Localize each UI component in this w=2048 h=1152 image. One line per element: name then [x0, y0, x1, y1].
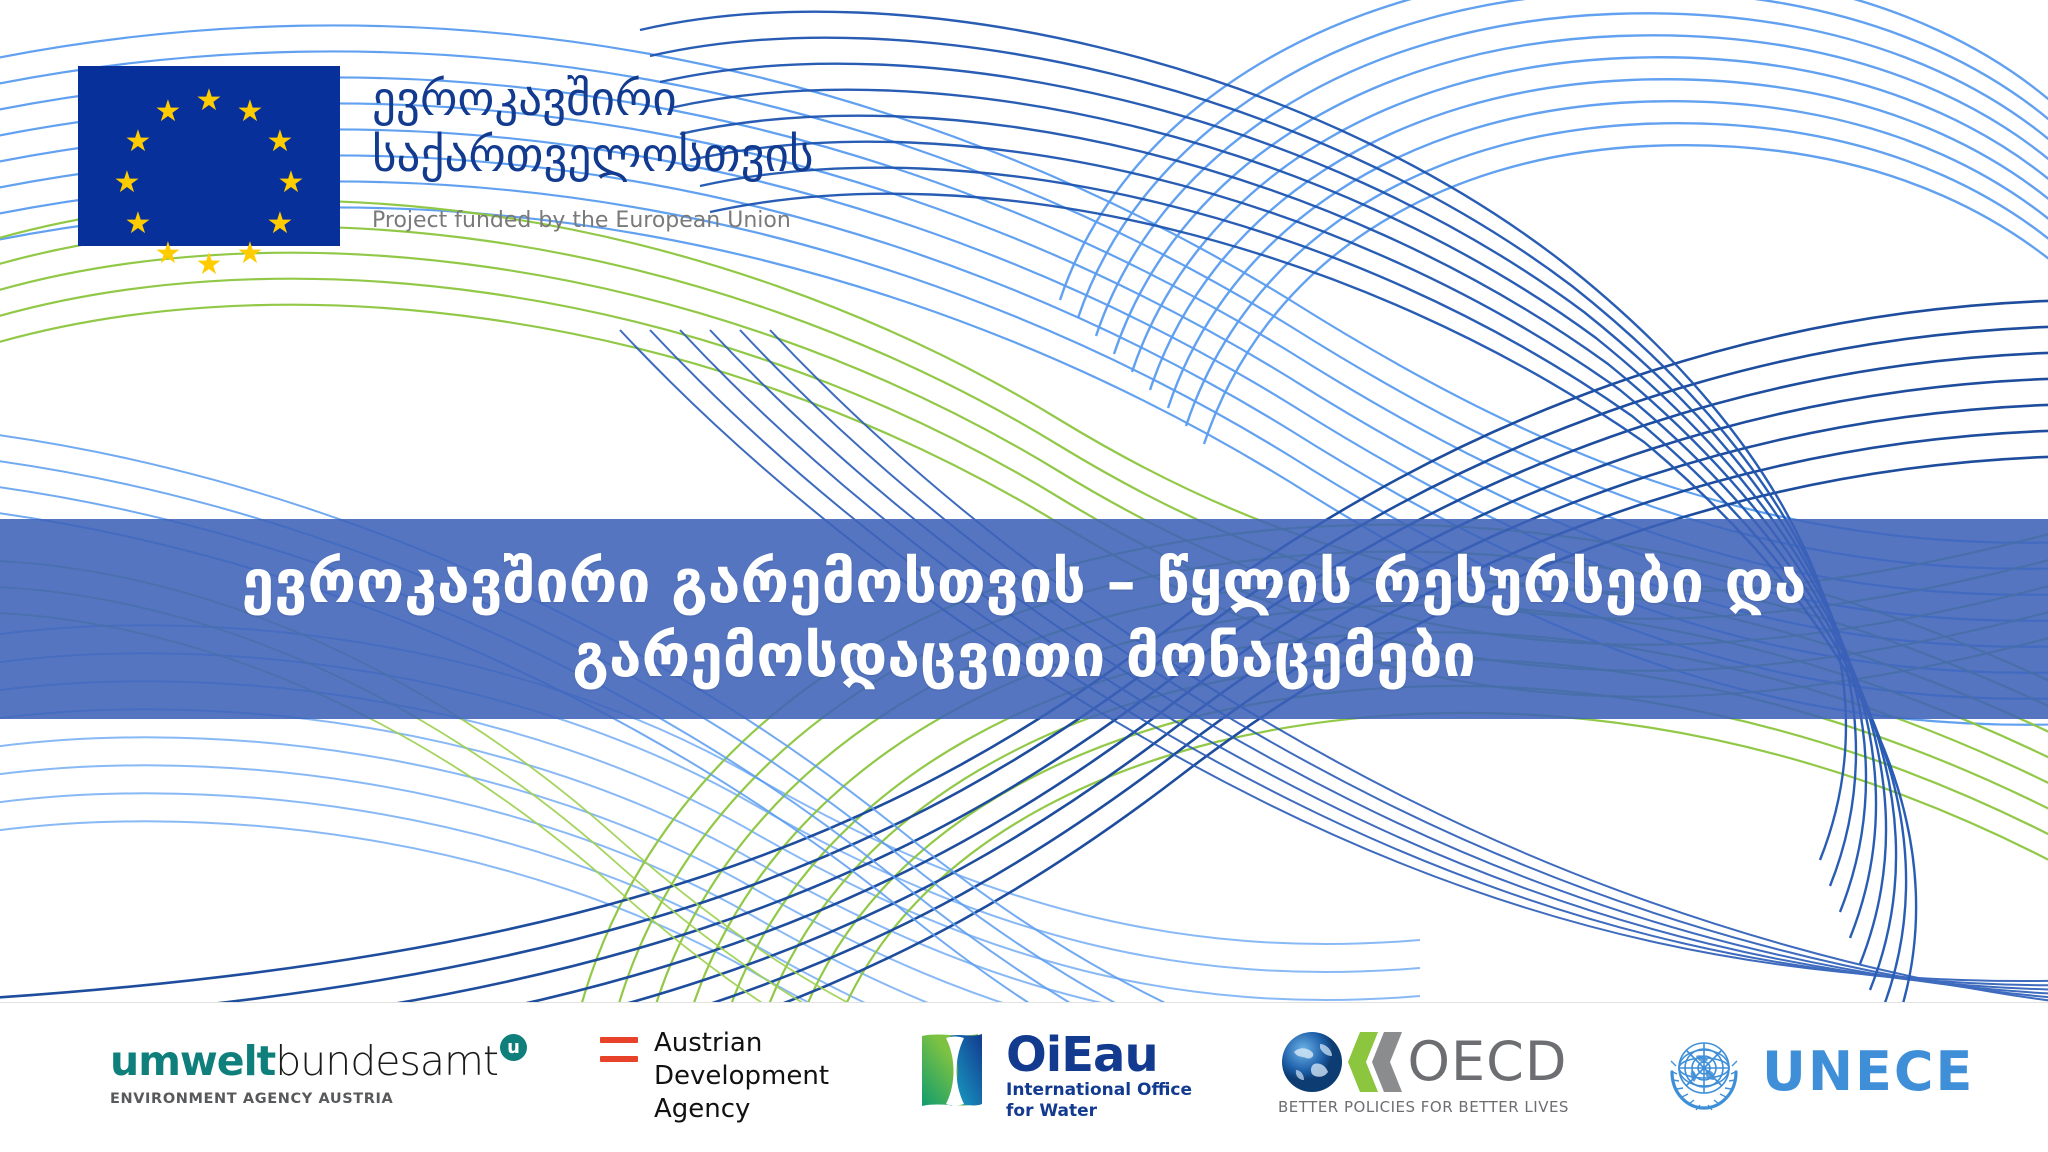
ada-line1: Austrian [654, 1027, 829, 1060]
umweltbundesamt-badge-icon: u [500, 1034, 527, 1061]
slide-title-line2: გარემოსდაცვითი მონაცემები [60, 619, 1988, 693]
partner-logo-oecd: OECD BETTER POLICIES FOR BETTER LIVES [1278, 1030, 1569, 1116]
slide-canvas: ★ ★ ★ ★ ★ ★ ★ ★ ★ ★ ★ ★ ევროკავშირი საქა… [0, 0, 2048, 1152]
umweltbundesamt-wordmark: umwelt bundesamt u [110, 1038, 527, 1084]
austria-flag-bar-bottom [600, 1056, 638, 1062]
eu-logo-line1: ევროკავშირი [372, 72, 814, 128]
ada-line2: Development [654, 1060, 829, 1093]
eu-logo-funding-note: Project funded by the European Union [372, 206, 814, 236]
title-banner: ევროკავშირი გარემოსთვის – წყლის რესურსებ… [0, 519, 2048, 719]
austria-flag-icon [600, 1037, 638, 1066]
partner-logo-umweltbundesamt: umwelt bundesamt u ENVIRONMENT AGENCY AU… [110, 1038, 527, 1107]
oieau-wordmark: OiEau International Office for Water [1006, 1030, 1192, 1122]
umweltbundesamt-word-light: bundesamt [275, 1038, 498, 1084]
oecd-chevron-icon [1346, 1030, 1404, 1094]
eu-star-icon: ★ [235, 239, 265, 269]
eu-star-icon: ★ [123, 127, 153, 157]
eu-star-icon: ★ [265, 209, 295, 239]
partner-logo-unece: UNECE [1660, 1028, 1974, 1116]
eu-star-icon: ★ [276, 168, 306, 198]
ada-wordmark: Austrian Development Agency [654, 1027, 829, 1126]
eu-star-icon: ★ [265, 127, 295, 157]
partner-logo-strip: umwelt bundesamt u ENVIRONMENT AGENCY AU… [0, 1002, 2048, 1152]
austria-flag-bar-top [600, 1037, 638, 1043]
oieau-sub1: International Office [1006, 1080, 1192, 1101]
eu-star-icon: ★ [194, 250, 224, 280]
unece-name: UNECE [1762, 1044, 1974, 1100]
austria-flag-bar-mid [600, 1047, 638, 1052]
ada-line3: Agency [654, 1093, 829, 1126]
oieau-water-icon [920, 1030, 992, 1108]
eu-star-icon: ★ [153, 97, 183, 127]
eu-star-icon: ★ [112, 168, 142, 198]
un-emblem-icon [1660, 1028, 1748, 1116]
oieau-name: OiEau [1006, 1030, 1192, 1080]
partner-logo-oieau: OiEau International Office for Water [920, 1030, 1192, 1122]
slide-title-line1: ევროკავშირი გარემოსთვის – წყლის რესურსებ… [60, 545, 1988, 619]
oieau-sub2: for Water [1006, 1101, 1192, 1122]
oecd-tagline: BETTER POLICIES FOR BETTER LIVES [1278, 1098, 1569, 1116]
eu-logo-line2: საქართველოსთვის [372, 128, 814, 184]
eu-flag-icon: ★ ★ ★ ★ ★ ★ ★ ★ ★ ★ ★ ★ [78, 66, 340, 246]
eu-star-icon: ★ [123, 209, 153, 239]
eu-logo-text: ევროკავშირი საქართველოსთვის Project fund… [372, 66, 814, 236]
title-banner-inner: ევროკავშირი გარემოსთვის – წყლის რესურსებ… [0, 545, 2048, 693]
eu-star-icon: ★ [153, 239, 183, 269]
umweltbundesamt-word-bold: umwelt [110, 1038, 275, 1084]
eu-star-icon: ★ [235, 97, 265, 127]
eu-star-icon: ★ [194, 86, 224, 116]
umweltbundesamt-tagline: ENVIRONMENT AGENCY AUSTRIA [110, 1091, 393, 1107]
eu-logo: ★ ★ ★ ★ ★ ★ ★ ★ ★ ★ ★ ★ ევროკავშირი საქა… [78, 66, 814, 246]
oecd-wordmark: OECD [1280, 1030, 1568, 1094]
partner-logo-austrian-development-agency: Austrian Development Agency [600, 1027, 829, 1126]
oecd-name: OECD [1408, 1033, 1568, 1091]
oecd-globe-icon [1280, 1030, 1344, 1094]
